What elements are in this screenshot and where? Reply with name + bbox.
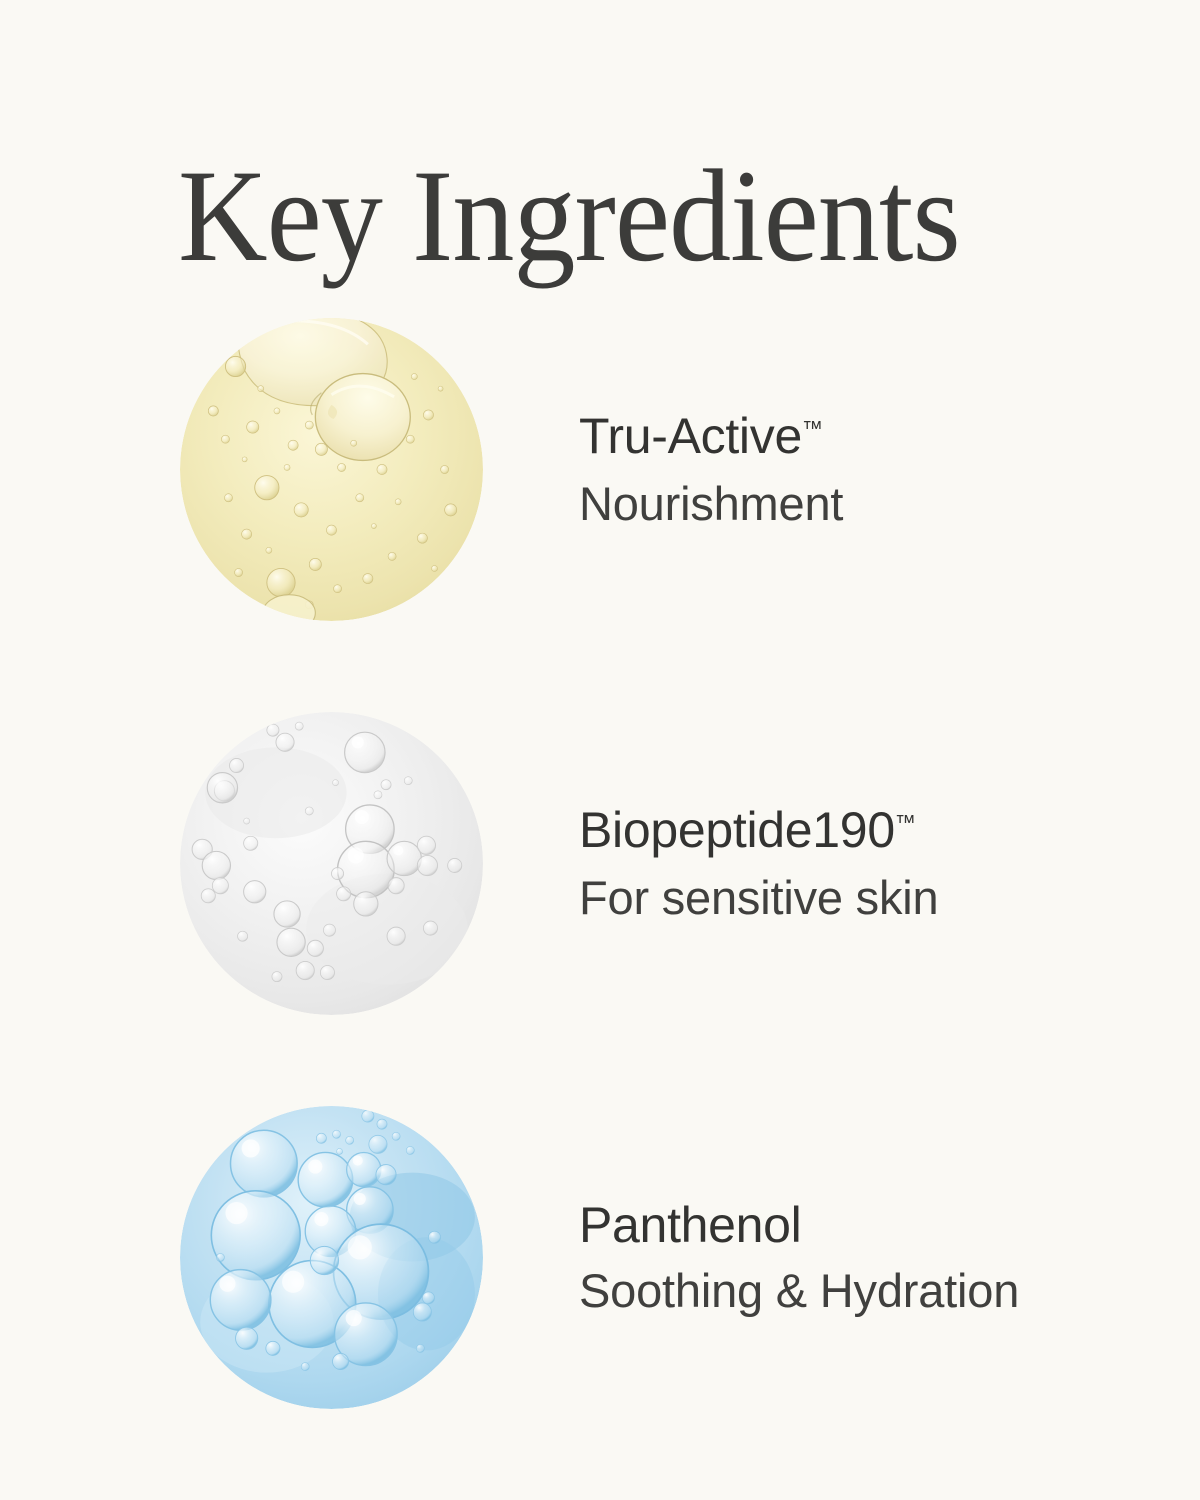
- infographic-page: Key Ingredients: [0, 0, 1200, 1500]
- ingredient-row: Panthenol Soothing & Hydration: [0, 1106, 1200, 1410]
- ingredient-name-text: Panthenol: [579, 1197, 802, 1253]
- ingredient-name: Tru-Active™: [579, 408, 843, 464]
- ingredient-swatch-yellow-oil-texture: [180, 318, 483, 621]
- ingredient-swatch-clear-gel-texture: [180, 712, 483, 1015]
- ingredient-name-text: Tru-Active: [579, 408, 802, 464]
- ingredient-name: Biopeptide190™: [579, 802, 938, 858]
- ingredient-swatch-blue-water-texture: [180, 1106, 483, 1409]
- ingredient-text-block: Biopeptide190™ For sensitive skin: [579, 712, 938, 1015]
- ingredient-name-text: Biopeptide190: [579, 802, 895, 858]
- trademark-symbol: ™: [895, 811, 916, 834]
- ingredient-row: Biopeptide190™ For sensitive skin: [0, 712, 1200, 1016]
- ingredient-description: For sensitive skin: [579, 870, 938, 925]
- trademark-symbol: ™: [802, 417, 823, 440]
- ingredient-row: Tru-Active™ Nourishment: [0, 318, 1200, 622]
- ingredient-description: Nourishment: [579, 476, 843, 531]
- ingredient-list: Tru-Active™ Nourishment: [0, 0, 1200, 1500]
- ingredient-text-block: Tru-Active™ Nourishment: [579, 318, 843, 621]
- ingredient-description: Soothing & Hydration: [579, 1263, 1019, 1318]
- ingredient-name: Panthenol: [579, 1197, 1019, 1253]
- ingredient-text-block: Panthenol Soothing & Hydration: [579, 1106, 1019, 1409]
